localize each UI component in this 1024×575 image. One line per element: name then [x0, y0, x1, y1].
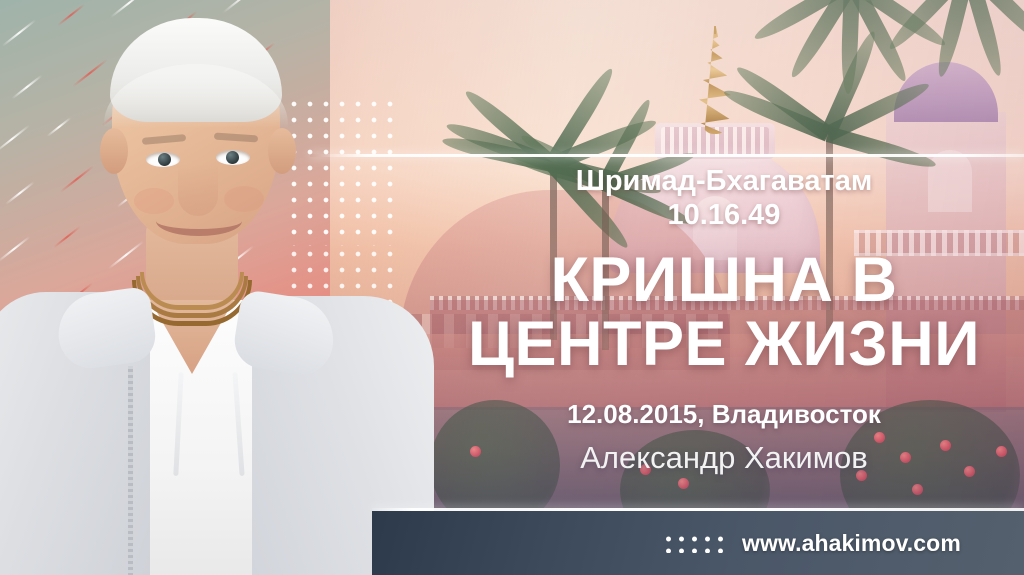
website-url[interactable]: www.ahakimov.com — [742, 530, 961, 557]
lecture-title-line2: ЦЕНТРЕ ЖИЗНИ — [430, 312, 1018, 376]
pupil-left — [158, 153, 171, 166]
top-separator-line — [310, 154, 1024, 157]
ear-right — [268, 128, 296, 174]
hoodie-zipper — [128, 366, 133, 575]
lecture-announcement-poster: Шримад-Бхагаватам 10.16.49 КРИШНА В ЦЕНТ… — [0, 0, 1024, 575]
lecture-title-line1: КРИШНА В — [550, 245, 897, 315]
speaker-portrait — [0, 0, 430, 575]
ear-left — [100, 128, 128, 174]
pupil-right — [226, 151, 239, 164]
dot-grid-icon — [662, 533, 726, 553]
smile — [156, 206, 242, 236]
speaker-name: Александр Хакимов — [430, 440, 1018, 476]
lecture-title: КРИШНА В ЦЕНТРЕ ЖИЗНИ — [430, 248, 1018, 377]
date-and-city: 12.08.2015, Владивосток — [430, 399, 1018, 430]
verse-number: 10.16.49 — [430, 198, 1018, 232]
footer-bar: www.ahakimov.com — [372, 511, 1024, 575]
hair — [110, 18, 282, 122]
scripture-name: Шримад-Бхагаватам — [430, 166, 1018, 198]
title-text-block: Шримад-Бхагаватам 10.16.49 КРИШНА В ЦЕНТ… — [430, 166, 1018, 476]
